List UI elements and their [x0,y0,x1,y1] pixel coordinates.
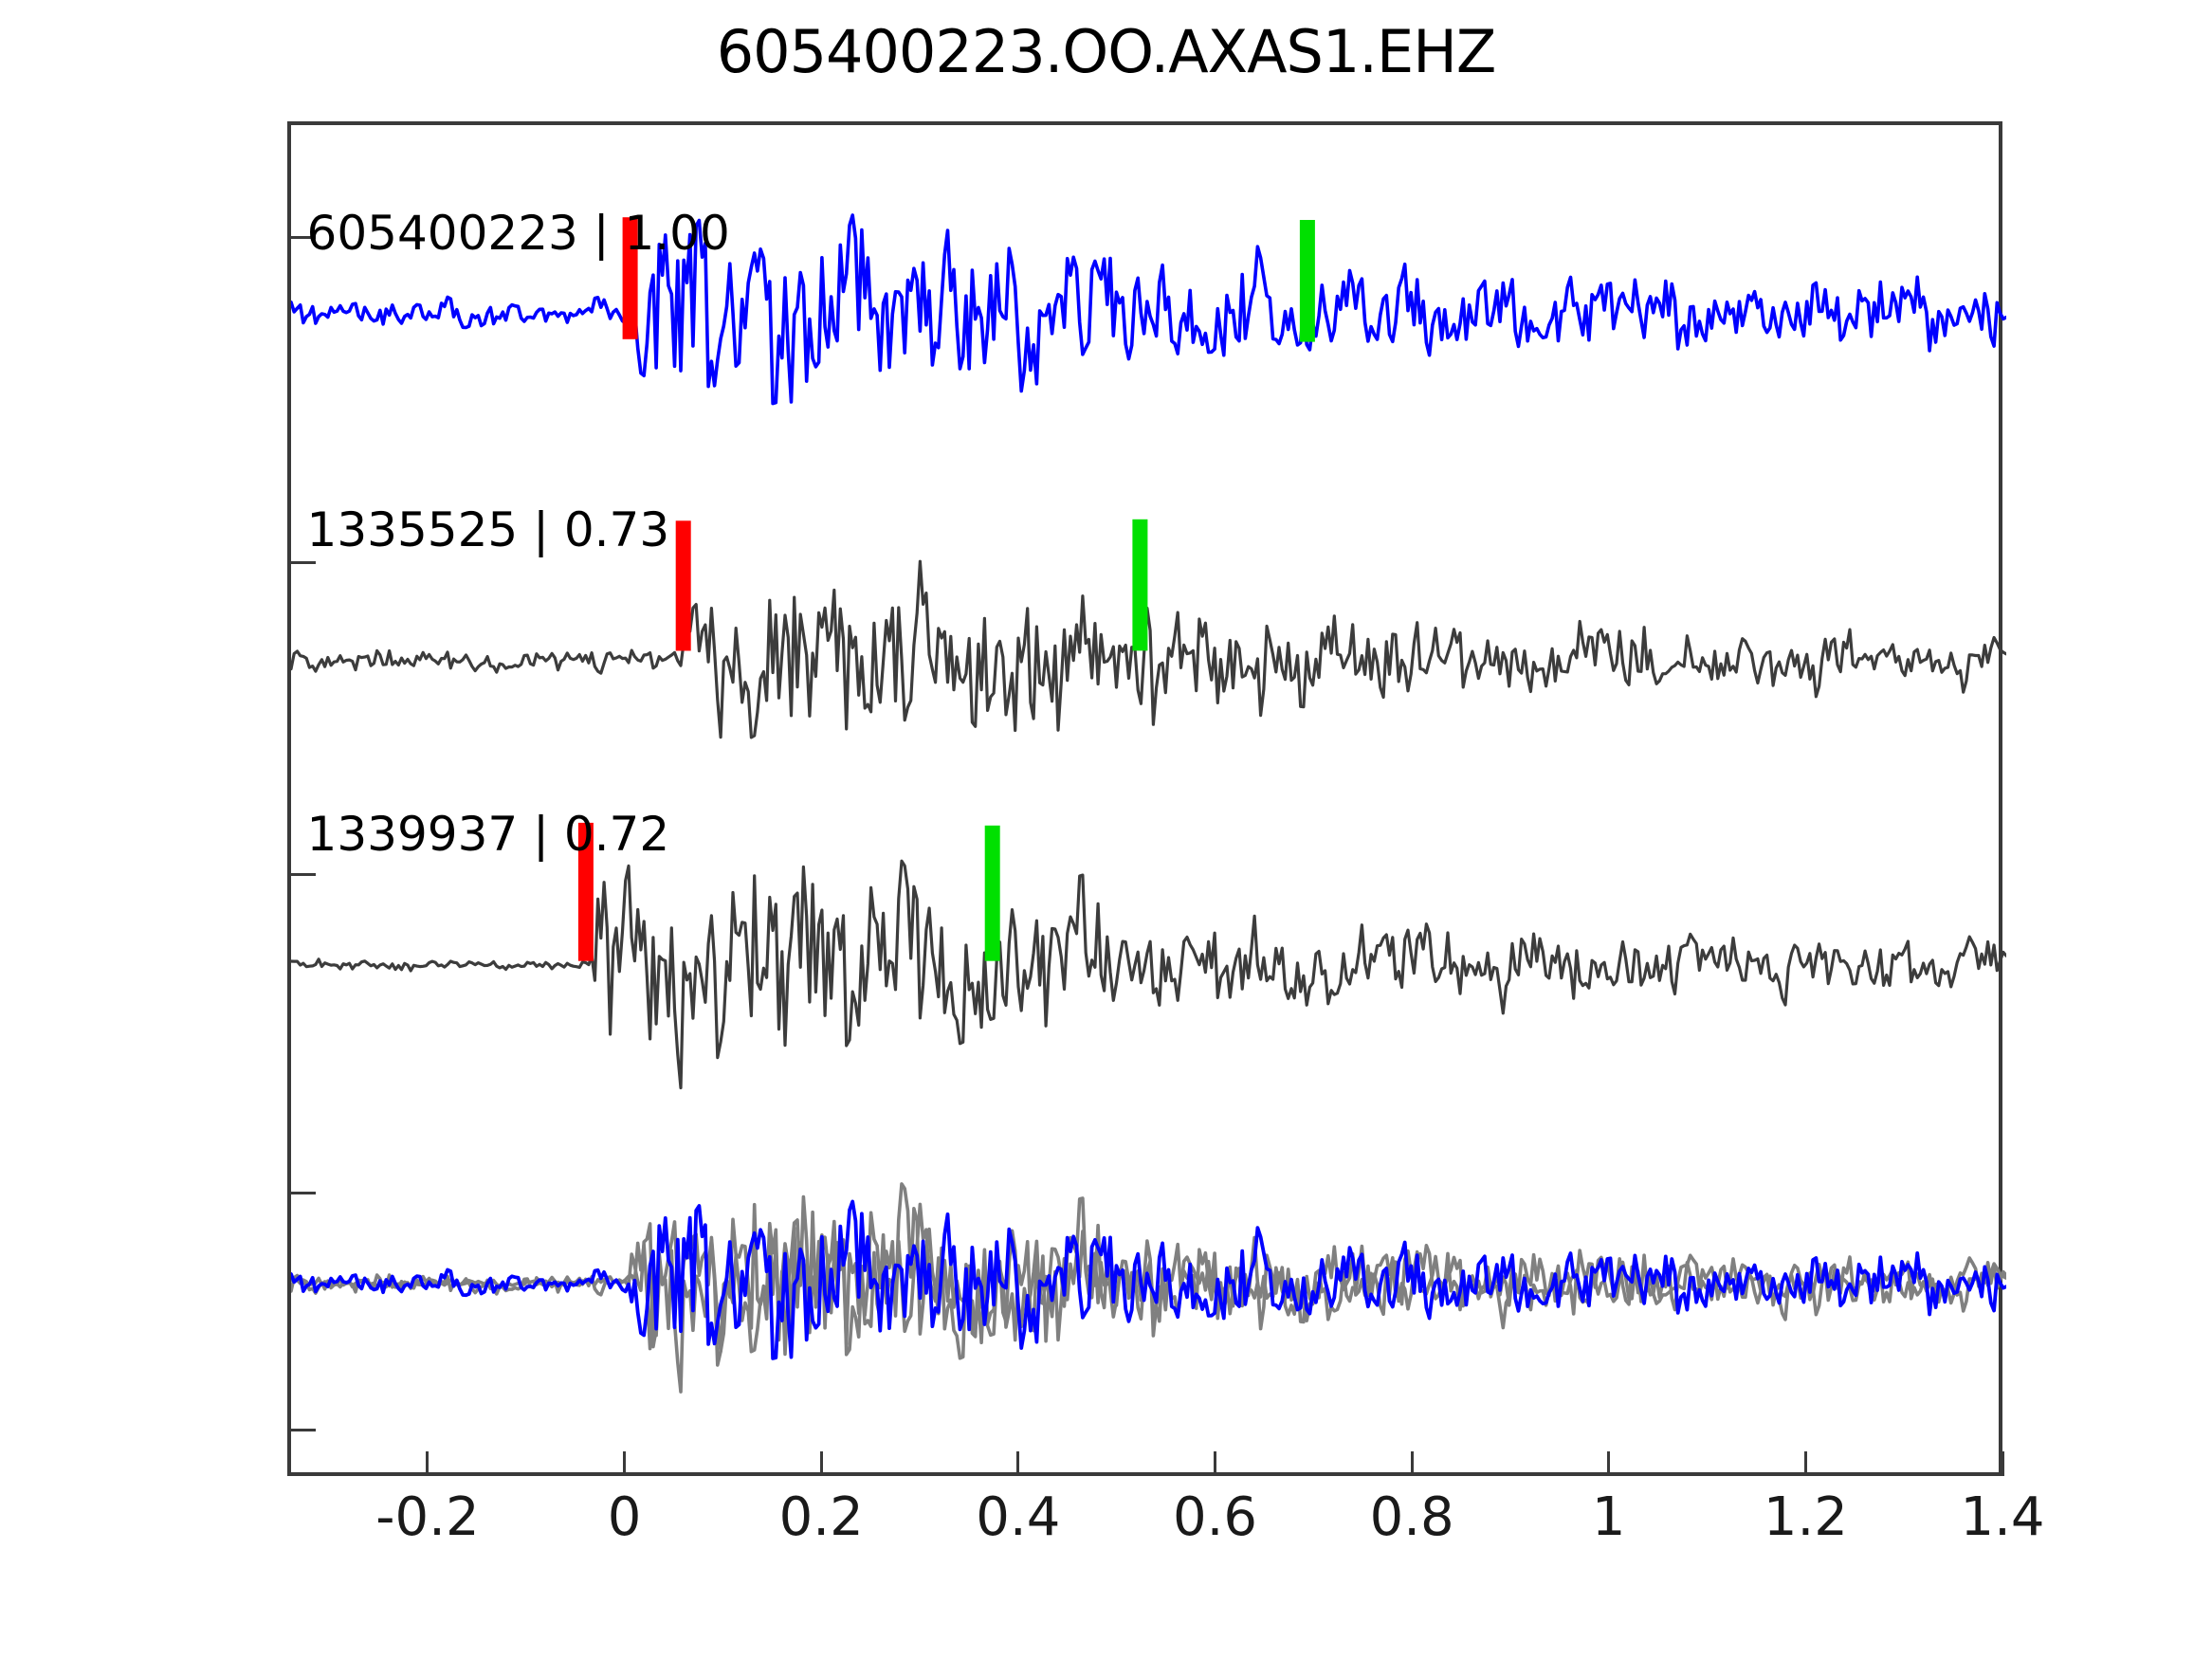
x-tick-7 [1804,1451,1807,1476]
x-tick-label-4: 0.6 [1173,1486,1257,1548]
figure-root: 605400223.OO.AXAS1.EHZ -0.200.20.40.60.8… [0,0,2212,1659]
x-tick-label-5: 0.8 [1370,1486,1454,1548]
trace-label-1339937: 1339937 | 0.72 [307,807,670,862]
x-tick-0 [426,1451,429,1476]
x-tick-label-7: 1.2 [1764,1486,1848,1548]
trace-label-1335525: 1335525 | 0.73 [307,502,670,557]
waveform-canvas [291,125,2006,1480]
x-tick-label-0: -0.2 [375,1486,479,1548]
x-tick-1 [623,1451,626,1476]
y-tick-3 [291,1192,316,1194]
x-tick-6 [1607,1451,1610,1476]
plot-axes [287,121,2002,1476]
x-tick-5 [1411,1451,1414,1476]
pick-marker-s-panel3 [985,826,1000,961]
x-tick-8 [2002,1451,2004,1476]
y-tick-2 [291,873,316,876]
pick-marker-s-panel1 [1300,220,1315,342]
x-tick-3 [1016,1451,1019,1476]
x-tick-4 [1214,1451,1216,1476]
trace-label-605400223: 605400223 | 1.00 [307,206,730,261]
pick-marker-p-panel2 [676,520,691,650]
pick-marker-s-panel2 [1132,520,1147,651]
waveform-match-1339937 [291,861,2006,1087]
x-tick-2 [820,1451,823,1476]
page-title: 605400223.OO.AXAS1.EHZ [0,17,2212,86]
x-tick-label-3: 0.4 [976,1486,1060,1548]
waveform-match-1335525 [291,561,2006,738]
y-tick-1 [291,561,316,564]
x-tick-label-1: 0 [608,1486,642,1548]
x-tick-label-8: 1.4 [1960,1486,2044,1548]
x-tick-label-2: 0.2 [779,1486,864,1548]
x-tick-label-6: 1 [1592,1486,1626,1548]
y-tick-4 [291,1429,316,1431]
